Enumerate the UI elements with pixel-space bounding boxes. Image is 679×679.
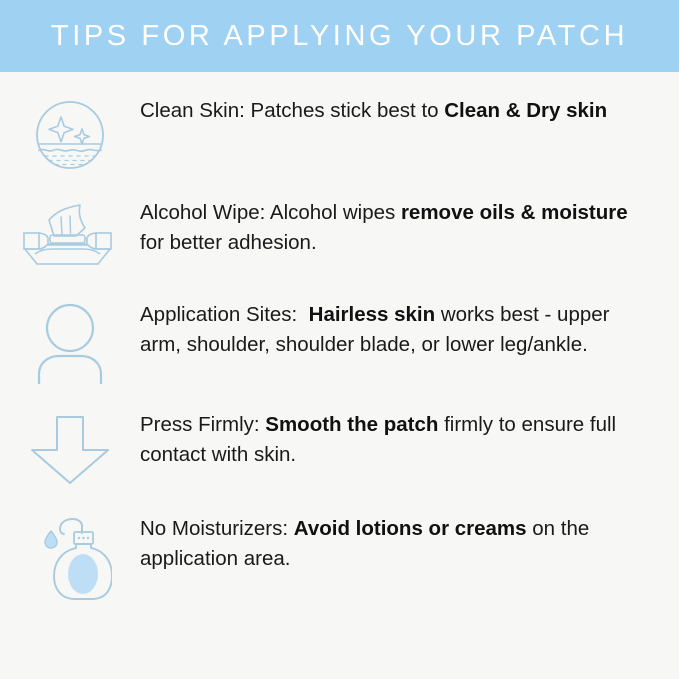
list-item: Alcohol Wipe: Alcohol wipes remove oils …: [0, 198, 679, 272]
page-title: TIPS FOR APPLYING YOUR PATCH: [51, 22, 628, 51]
tip-body-emphasis: Clean & Dry skin: [444, 99, 607, 122]
tips-list: Clean Skin: Patches stick best to Clean …: [0, 72, 679, 602]
list-item: Application Sites: Hairless skin works b…: [0, 300, 679, 384]
tip-icon-cell: [0, 96, 140, 170]
tip-text-cell: No Moisturizers: Avoid lotions or creams…: [140, 514, 679, 574]
list-item: No Moisturizers: Avoid lotions or creams…: [0, 514, 679, 602]
tips-infographic: TIPS FOR APPLYING YOUR PATCH: [0, 0, 679, 679]
tip-lead-label: Application Sites:: [140, 303, 309, 326]
tip-body-emphasis: Avoid lotions or creams: [294, 517, 527, 540]
tip-text: Press Firmly: Smooth the patch firmly to…: [140, 410, 649, 470]
tip-icon-cell: [0, 410, 140, 486]
tip-text: No Moisturizers: Avoid lotions or creams…: [140, 514, 649, 574]
tip-lead-label: Press Firmly:: [140, 413, 265, 436]
list-item: Press Firmly: Smooth the patch firmly to…: [0, 410, 679, 486]
tip-body-plain: Alcohol wipes: [270, 201, 401, 224]
tip-body-emphasis: remove oils & moisture: [401, 201, 628, 224]
tip-text-cell: Clean Skin: Patches stick best to Clean …: [140, 96, 679, 126]
tip-lead-label: Alcohol Wipe:: [140, 201, 270, 224]
person-body-icon: [34, 302, 106, 384]
tip-icon-cell: [0, 198, 140, 272]
down-arrow-icon: [29, 414, 111, 486]
tip-text: Application Sites: Hairless skin works b…: [140, 300, 649, 360]
tip-lead-label: Clean Skin:: [140, 99, 251, 122]
lotion-bottle-icon: [28, 516, 112, 602]
tip-text-cell: Application Sites: Hairless skin works b…: [140, 300, 679, 360]
list-item: Clean Skin: Patches stick best to Clean …: [0, 96, 679, 170]
tip-text: Clean Skin: Patches stick best to Clean …: [140, 96, 649, 126]
tip-icon-cell: [0, 514, 140, 602]
tip-text: Alcohol Wipe: Alcohol wipes remove oils …: [140, 198, 649, 258]
tip-body-emphasis: Smooth the patch: [265, 413, 438, 436]
tip-text-cell: Press Firmly: Smooth the patch firmly to…: [140, 410, 679, 470]
tip-text-cell: Alcohol Wipe: Alcohol wipes remove oils …: [140, 198, 679, 258]
tip-body-plain: Patches stick best to: [251, 99, 445, 122]
tip-icon-cell: [0, 300, 140, 384]
header-banner: TIPS FOR APPLYING YOUR PATCH: [0, 0, 679, 72]
wipes-box-icon: [20, 202, 120, 272]
tip-lead-label: No Moisturizers:: [140, 517, 294, 540]
tip-body-emphasis: Hairless skin: [309, 303, 436, 326]
clean-skin-sparkle-icon: [35, 100, 105, 170]
